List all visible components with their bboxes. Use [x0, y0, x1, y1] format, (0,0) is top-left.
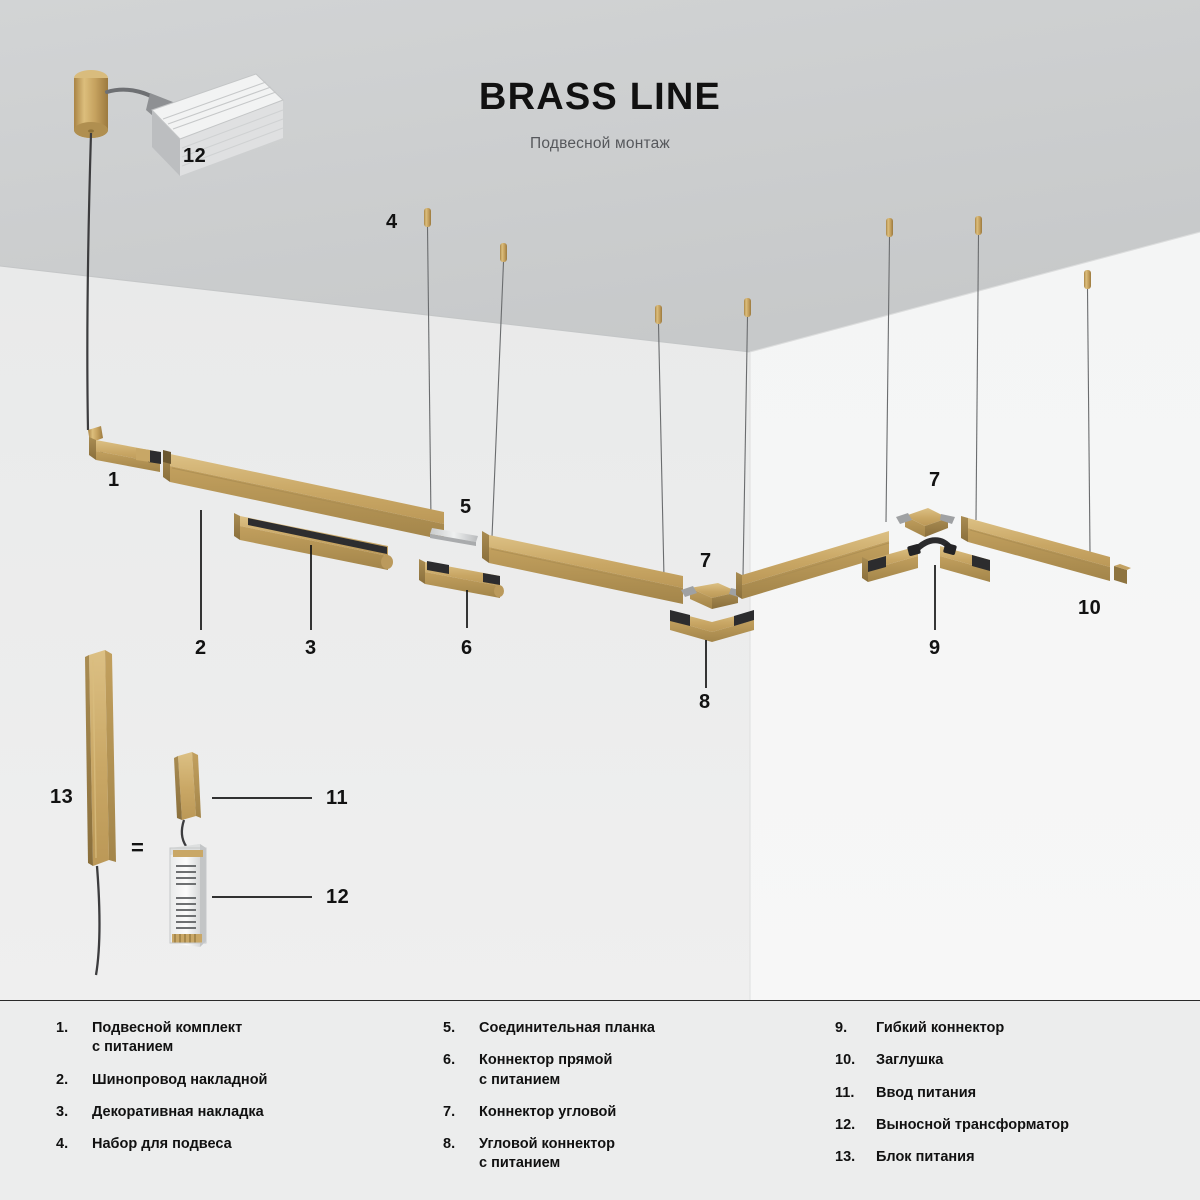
legend-item-11-label: Ввод питания: [876, 1084, 976, 1103]
callout-2: 2: [195, 638, 207, 658]
callout-12-top: 12: [183, 146, 206, 166]
callout-12-bottom: 12: [326, 887, 349, 907]
legend-item-9-number: 9.: [835, 1019, 876, 1038]
legend-item-2-number: 2.: [56, 1071, 92, 1090]
legend-item-5-label: Соединительная планка: [479, 1019, 655, 1038]
callout-7-right: 7: [929, 470, 941, 490]
legend-item-5: 5. Соединительная планка: [443, 1019, 822, 1038]
callout-3: 3: [305, 638, 317, 658]
legend-item-11: 11. Ввод питания: [835, 1084, 1200, 1103]
callout-7-left: 7: [700, 551, 712, 571]
callout-4: 4: [386, 212, 398, 232]
callout-6: 6: [461, 638, 473, 658]
callout-9: 9: [929, 638, 941, 658]
product-diagram-page: BRASS LINE Подвесной монтаж 12 4 1 2 3 5…: [0, 0, 1200, 1200]
legend-item-4-number: 4.: [56, 1135, 92, 1154]
legend-item-7-label: Коннектор угловой: [479, 1103, 616, 1122]
callout-13: 13: [50, 787, 73, 807]
legend-item-3-number: 3.: [56, 1103, 92, 1122]
room-wall-right: [750, 232, 1200, 1000]
room-wall-left: [0, 266, 750, 1000]
legend-item-1-number: 1.: [56, 1019, 92, 1058]
legend-item-7-number: 7.: [443, 1103, 479, 1122]
legend-item-11-number: 11.: [835, 1084, 876, 1103]
equals-sign: =: [131, 837, 144, 859]
legend-item-1: 1. Подвесной комплект с питанием: [56, 1019, 430, 1058]
callout-10: 10: [1078, 598, 1101, 618]
title-block: BRASS LINE Подвесной монтаж: [0, 78, 1200, 153]
legend-item-13-label: Блок питания: [876, 1148, 975, 1167]
legend-item-3-label: Декоративная накладка: [92, 1103, 264, 1122]
callout-8: 8: [699, 692, 711, 712]
legend-column-1: 1. Подвесной комплект с питанием 2. Шино…: [0, 1019, 430, 1187]
legend-item-1-label: Подвесной комплект с питанием: [92, 1019, 242, 1058]
legend-column-3: 9. Гибкий коннектор 10. Заглушка 11. Вво…: [822, 1019, 1200, 1187]
legend-item-9-label: Гибкий коннектор: [876, 1019, 1004, 1038]
legend-item-12: 12. Выносной трансформатор: [835, 1116, 1200, 1135]
legend-item-10-label: Заглушка: [876, 1051, 943, 1070]
legend-item-6-label: Коннектор прямой с питанием: [479, 1051, 612, 1090]
legend-item-8: 8. Угловой коннектор с питанием: [443, 1135, 822, 1174]
legend-item-8-label: Угловой коннектор с питанием: [479, 1135, 615, 1174]
legend-item-4: 4. Набор для подвеса: [56, 1135, 430, 1154]
callout-1: 1: [108, 470, 120, 490]
legend-item-5-number: 5.: [443, 1019, 479, 1038]
legend-item-6-number: 6.: [443, 1051, 479, 1090]
legend-item-10-number: 10.: [835, 1051, 876, 1070]
legend-item-13-number: 13.: [835, 1148, 876, 1167]
legend-item-7: 7. Коннектор угловой: [443, 1103, 822, 1122]
legend-item-13: 13. Блок питания: [835, 1148, 1200, 1167]
legend-item-9: 9. Гибкий коннектор: [835, 1019, 1200, 1038]
legend-item-2: 2. Шинопровод накладной: [56, 1071, 430, 1090]
legend-item-6: 6. Коннектор прямой с питанием: [443, 1051, 822, 1090]
legend-panel: 1. Подвесной комплект с питанием 2. Шино…: [0, 1000, 1200, 1200]
legend-item-8-number: 8.: [443, 1135, 479, 1174]
callout-5: 5: [460, 497, 472, 517]
page-subtitle: Подвесной монтаж: [0, 135, 1200, 153]
part-12-remote-transformer-bottom: [170, 844, 206, 947]
legend-item-10: 10. Заглушка: [835, 1051, 1200, 1070]
legend-item-4-label: Набор для подвеса: [92, 1135, 232, 1154]
callout-11: 11: [326, 788, 348, 808]
legend-item-3: 3. Декоративная накладка: [56, 1103, 430, 1122]
legend-item-12-number: 12.: [835, 1116, 876, 1135]
legend-item-2-label: Шинопровод накладной: [92, 1071, 267, 1090]
legend-item-12-label: Выносной трансформатор: [876, 1116, 1069, 1135]
legend-column-2: 5. Соединительная планка 6. Коннектор пр…: [430, 1019, 822, 1187]
page-title: BRASS LINE: [0, 78, 1200, 116]
